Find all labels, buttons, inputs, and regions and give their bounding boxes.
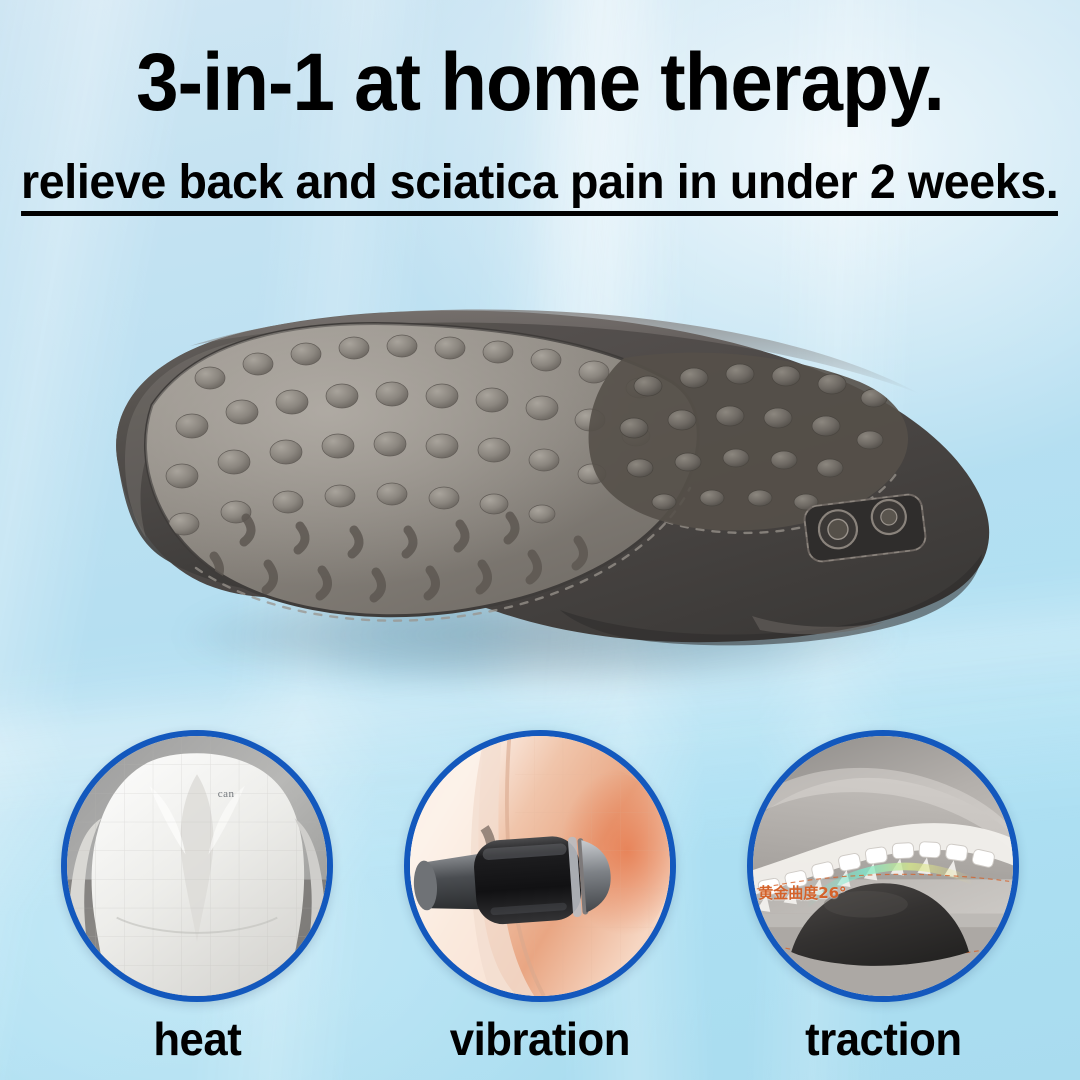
heat-illustration xyxy=(67,736,327,996)
vibration-illustration xyxy=(410,736,670,996)
page-subtitle: relieve back and sciatica pain in under … xyxy=(21,158,1058,216)
headline-block: 3-in-1 at home therapy. relieve back and… xyxy=(0,42,1080,216)
feature-label-traction: traction xyxy=(805,1016,961,1062)
feature-label-heat: heat xyxy=(153,1016,241,1062)
feature-image-heat[interactable]: can xyxy=(61,730,333,1002)
feature-image-vibration[interactable] xyxy=(404,730,676,1002)
product-illustration xyxy=(0,250,1080,720)
feature-row: can heat xyxy=(0,730,1080,1080)
traction-overlay-text: 黄金曲度26° xyxy=(758,882,846,903)
traction-illustration xyxy=(753,736,1013,996)
feature-image-traction[interactable]: 黄金曲度26° xyxy=(747,730,1019,1002)
page-title: 3-in-1 at home therapy. xyxy=(38,42,1042,124)
ad-creative-canvas: 3-in-1 at home therapy. relieve back and… xyxy=(0,0,1080,1080)
feature-vibration[interactable]: vibration xyxy=(395,730,685,1080)
feature-label-vibration: vibration xyxy=(450,1016,630,1062)
subheadline-wrap: relieve back and sciatica pain in under … xyxy=(0,158,1080,216)
hero-product-stage xyxy=(0,250,1080,720)
feature-heat[interactable]: can heat xyxy=(52,730,342,1080)
feature-traction[interactable]: 黄金曲度26° traction xyxy=(738,730,1028,1080)
heat-watermark-text: can xyxy=(218,788,235,800)
